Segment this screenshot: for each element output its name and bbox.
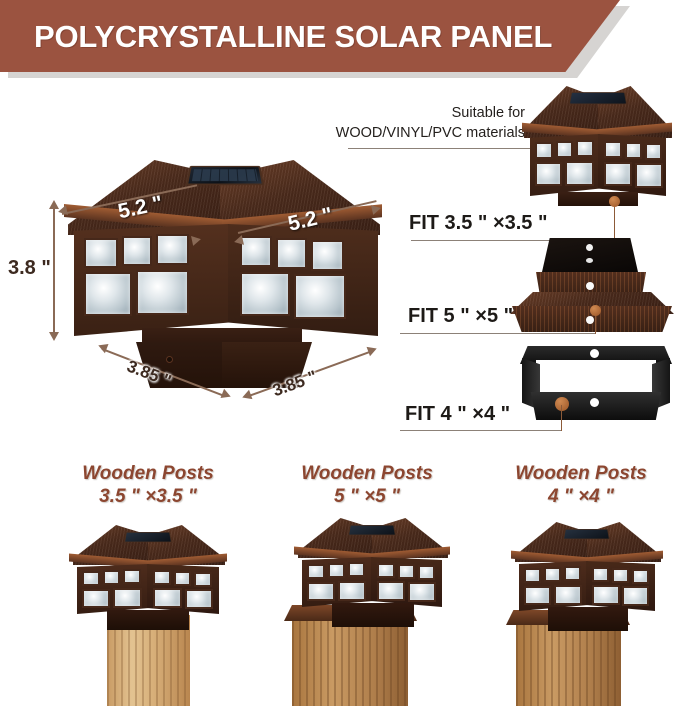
glass-pane (535, 162, 562, 186)
post-cap-3 (505, 522, 670, 622)
black-adapter-frame (520, 340, 672, 440)
frame-opening (536, 360, 656, 396)
glass-pane (632, 569, 649, 584)
glass-pane (103, 570, 120, 585)
glass-pane (377, 581, 405, 601)
glass-pane (622, 586, 649, 606)
lantern-body-left (302, 557, 373, 607)
post-label-size-2: 5 " ×5 " (262, 484, 472, 510)
screw-hole (590, 349, 599, 358)
glass-pane (604, 141, 622, 158)
post-cap-2 (288, 518, 458, 618)
lantern-body-right (598, 134, 666, 196)
glass-pane (113, 588, 142, 608)
suitable-note-line1: Suitable for (330, 104, 525, 124)
leader-line-4 (400, 430, 562, 431)
glass-pane (156, 234, 189, 265)
glass-pane (136, 270, 189, 315)
glass-pane (408, 582, 436, 602)
base-skirt (332, 603, 414, 627)
lantern-body-right (147, 564, 219, 614)
dim-arrowhead (191, 234, 202, 246)
dim-line-height (53, 208, 55, 334)
glass-pane (276, 238, 307, 269)
post-label-title-2: Wooden Posts (262, 461, 472, 487)
dim-arrowhead (49, 200, 59, 209)
glass-pane (294, 274, 346, 319)
leader-line-5 (400, 333, 596, 334)
glass-pane (194, 572, 212, 587)
suitable-note-line2: WOOD/VINYL/PVC materials (330, 124, 525, 144)
glass-pane (612, 568, 629, 583)
glass-pane (338, 581, 366, 601)
screw-hole (586, 316, 594, 324)
post-label-title-1: Wooden Posts (43, 461, 253, 487)
screw-hole (586, 258, 593, 263)
glass-pane (625, 142, 642, 159)
post-cap-1 (63, 525, 233, 623)
glass-pane (544, 567, 561, 582)
glass-pane (592, 567, 609, 582)
glass-pane (556, 141, 573, 158)
page-title: POLYCRYSTALLINE SOLAR PANEL (34, 12, 594, 62)
screw-hole (590, 398, 599, 407)
solar-post-cap-light-small (522, 86, 672, 216)
screw-hole (586, 244, 593, 251)
glass-pane (418, 565, 435, 580)
solar-panel (124, 532, 172, 542)
header-banner: POLYCRYSTALLINE SOLAR PANEL (0, 0, 679, 80)
bronze-adapter-base (508, 232, 676, 337)
solar-panel (186, 166, 264, 185)
lantern-body-right (371, 557, 442, 607)
glass-pane (398, 564, 415, 579)
glass-pane (645, 143, 662, 160)
fit-label-5: FIT 5 " ×5 " (408, 305, 513, 328)
glass-pane (604, 162, 632, 186)
base-skirt (558, 192, 638, 206)
glass-pane (82, 589, 110, 608)
glass-pane (348, 562, 365, 577)
glass-pane (524, 586, 551, 605)
glass-pane (307, 564, 325, 579)
glass-pane (307, 582, 335, 601)
glass-pane (565, 161, 594, 186)
glass-pane (82, 571, 100, 586)
dim-arrowhead (49, 332, 59, 341)
post-label-size-3: 4 " ×4 " (476, 484, 679, 510)
solar-panel (569, 92, 628, 104)
glass-pane (311, 240, 344, 271)
glass-pane (592, 585, 620, 605)
base-skirt (107, 610, 189, 630)
lantern-body-left (74, 224, 229, 336)
lantern-body-left (530, 134, 600, 196)
lantern-body-right (228, 224, 378, 336)
fit-label-4: FIT 4 " ×4 " (405, 403, 510, 426)
glass-pane (84, 272, 132, 316)
glass-pane (122, 236, 152, 266)
lantern-body-right (586, 561, 655, 611)
glass-pane (240, 236, 272, 267)
leader-line-4-vertical (561, 405, 562, 431)
glass-pane (535, 142, 553, 159)
dim-label-height: 3.8 " (8, 257, 51, 280)
post-label-title-3: Wooden Posts (476, 461, 679, 487)
glass-pane (564, 566, 581, 581)
base-skirt (548, 607, 628, 631)
suitable-note-underline (348, 148, 530, 149)
glass-pane (524, 568, 541, 583)
solar-panel (348, 525, 396, 535)
post-label-size-1: 3.5 " ×3.5 " (43, 484, 253, 510)
glass-pane (554, 585, 582, 605)
lantern-body-left (519, 561, 588, 611)
wooden-post-3 (516, 618, 621, 706)
glass-pane (153, 570, 171, 585)
glass-pane (328, 563, 345, 578)
base-screw-hole (166, 356, 173, 363)
glass-pane (576, 140, 594, 157)
dim-arrowhead (371, 203, 382, 215)
screw-hole (586, 282, 594, 290)
leader-dot-5 (590, 305, 601, 316)
leader-dot-3-5 (609, 196, 620, 207)
glass-pane (123, 569, 141, 584)
glass-pane (174, 571, 191, 586)
dim-arrowhead (233, 235, 244, 247)
glass-pane (635, 163, 663, 188)
glass-pane (240, 272, 290, 316)
glass-pane (377, 563, 395, 578)
solar-panel (563, 529, 610, 539)
glass-pane (84, 238, 118, 268)
glass-pane (185, 589, 213, 609)
lantern-body-left (77, 564, 149, 614)
main-product-illustration (60, 160, 380, 405)
glass-pane (153, 588, 182, 608)
